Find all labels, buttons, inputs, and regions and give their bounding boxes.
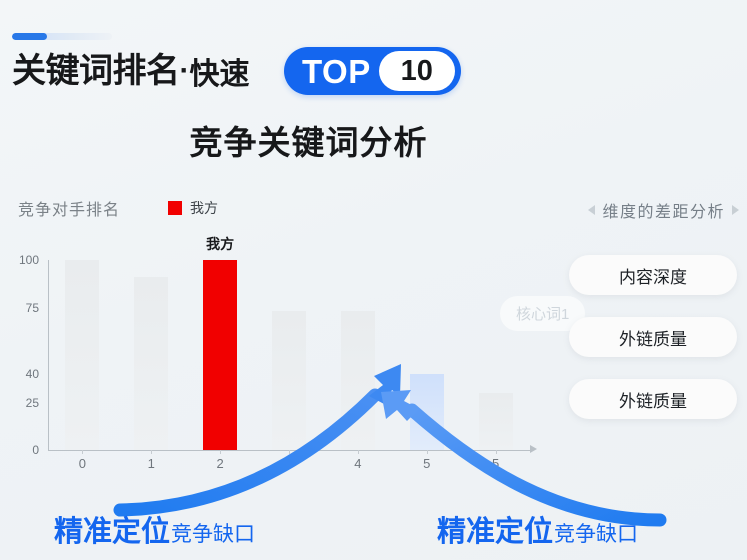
header-row: 关键词排名 · 快速 <box>12 46 250 96</box>
header-sub-text: 快速 <box>190 49 250 93</box>
dimension-panel-header: 维度的差距分析 <box>588 198 739 222</box>
header-main-text: 关键词排名 <box>12 46 180 96</box>
dimension-pill[interactable]: 外链质量 <box>569 379 737 419</box>
y-axis-tick: 100 <box>19 253 39 267</box>
caption-right: 精准定位 竞争缺口 <box>437 508 638 550</box>
bar-target <box>410 374 444 450</box>
bar-chart: 1007540250 我方 0123455 <box>0 250 560 480</box>
x-axis-tick-mark <box>151 450 152 454</box>
page-title: 竞争关键词分析 <box>0 116 747 164</box>
progress-bar-fill <box>12 33 47 40</box>
caption-right-weak: 竞争缺口 <box>554 518 638 548</box>
x-axis-tick: 5 <box>423 456 430 471</box>
caption-left-strong: 精准定位 <box>54 508 170 550</box>
x-axis-tick: 5 <box>492 456 499 471</box>
x-axis-tick-mark <box>427 450 428 454</box>
dimension-pill-list: 内容深度外链质量外链质量 <box>569 255 737 419</box>
legend-color-swatch <box>168 201 182 215</box>
chart-legend-title: 竞争对手排名 <box>18 196 120 220</box>
x-axis-line <box>48 450 532 451</box>
bar <box>65 260 99 450</box>
y-axis-tick: 75 <box>26 301 39 315</box>
y-axis-tick: 25 <box>26 396 39 410</box>
dimension-panel-title: 维度的差距分析 <box>602 198 725 222</box>
triangle-right-icon <box>732 205 739 215</box>
bar <box>272 311 306 450</box>
bar-highlight-mine: 我方 <box>203 260 237 450</box>
caption-right-strong: 精准定位 <box>437 508 553 550</box>
x-axis-tick: 4 <box>354 456 361 471</box>
top-rank-badge-label: TOP <box>302 55 371 88</box>
x-axis-tick-mark <box>496 450 497 454</box>
dimension-pill[interactable]: 内容深度 <box>569 255 737 295</box>
chart-legend: 竞争对手排名 我方 <box>18 196 218 220</box>
bar-highlight-label: 我方 <box>206 234 234 254</box>
dimension-pill-label: 外链质量 <box>619 387 687 412</box>
plot-area: 我方 <box>48 260 530 450</box>
dimension-pill-label: 内容深度 <box>619 263 687 288</box>
y-axis-tick: 0 <box>32 443 39 457</box>
dimension-pill-label: 外链质量 <box>619 325 687 350</box>
bar <box>479 393 513 450</box>
x-axis-arrow-icon <box>530 445 537 453</box>
x-axis-tick: 3 <box>285 456 292 471</box>
y-axis-tick: 40 <box>26 367 39 381</box>
progress-bar-track <box>12 33 112 40</box>
x-axis-tick: 0 <box>79 456 86 471</box>
bar <box>134 277 168 450</box>
caption-left-weak: 竞争缺口 <box>171 518 255 548</box>
x-axis-tick: 1 <box>148 456 155 471</box>
dimension-pill[interactable]: 外链质量 <box>569 317 737 357</box>
bar <box>341 311 375 450</box>
top-rank-badge[interactable]: TOP 10 <box>284 47 461 95</box>
caption-left: 精准定位 竞争缺口 <box>54 508 255 550</box>
x-axis-tick-mark <box>289 450 290 454</box>
x-axis-tick-mark <box>82 450 83 454</box>
top-rank-badge-count: 10 <box>379 51 455 91</box>
header-separator: · <box>180 54 190 88</box>
triangle-left-icon <box>588 205 595 215</box>
x-axis-tick: 2 <box>217 456 224 471</box>
x-axis-tick-mark <box>220 450 221 454</box>
legend-series-label: 我方 <box>190 198 218 218</box>
x-axis-tick-mark <box>358 450 359 454</box>
chart-legend-series: 我方 <box>168 198 218 218</box>
